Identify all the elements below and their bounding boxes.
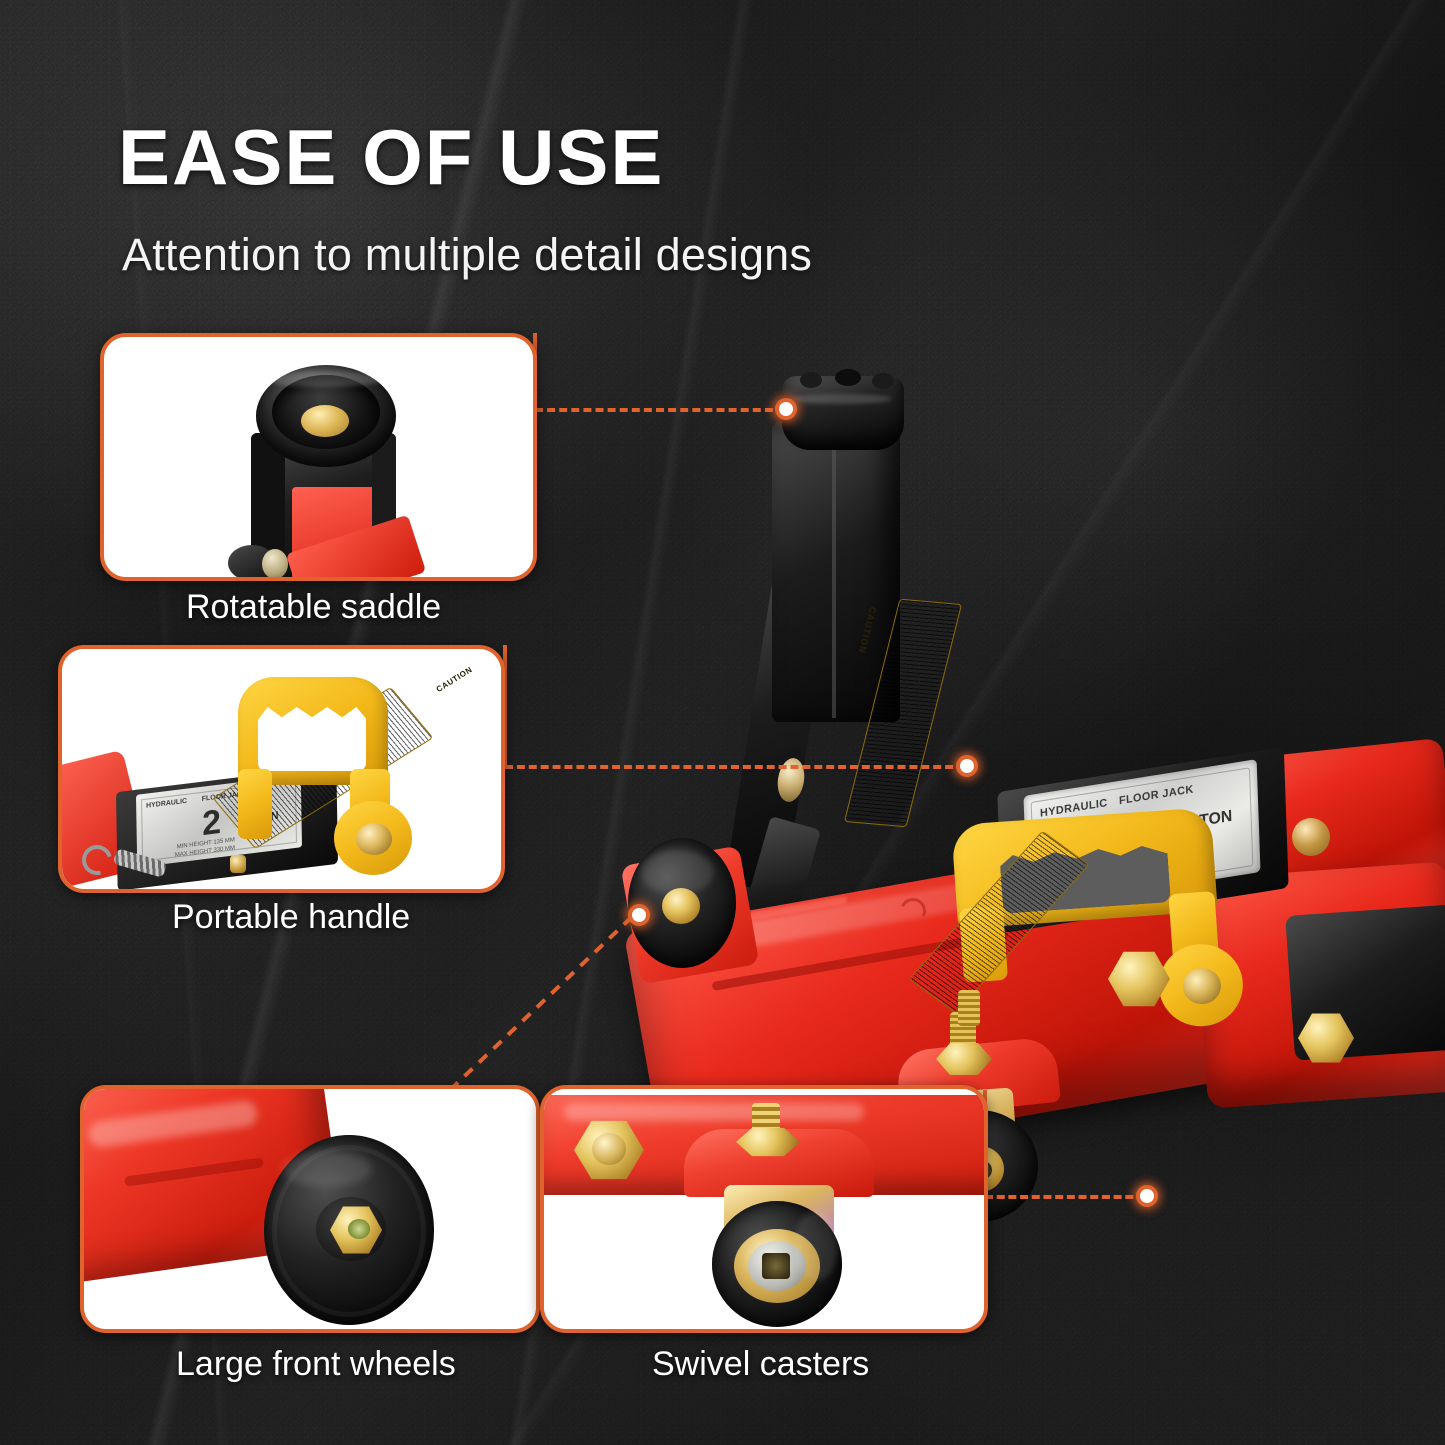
zoom-caster-hub-core bbox=[762, 1253, 790, 1279]
callout-image-rotatable-saddle bbox=[104, 337, 533, 577]
connector-line-swivel-casters bbox=[985, 1195, 1145, 1199]
callout-label-rotatable-saddle: Rotatable saddle bbox=[186, 588, 441, 627]
callout-large-front-wheels[interactable] bbox=[80, 1085, 540, 1333]
chassis-stud-bolt bbox=[958, 990, 980, 1026]
zoom-caster-wheel-shine bbox=[794, 1211, 838, 1281]
zoom-saddle-rim-highlight bbox=[264, 371, 384, 387]
zoom-handle-pivot-bolt bbox=[356, 823, 392, 855]
saddle-notch-left bbox=[800, 372, 822, 388]
page-subtitle: Attention to multiple detail designs bbox=[122, 232, 812, 277]
front-wheel-rim-shine bbox=[640, 850, 714, 894]
zoom-front-wheel-axle-core bbox=[348, 1219, 370, 1239]
zoom-handle-caution-heading: CAUTION bbox=[435, 665, 474, 694]
connector-anchor-rotatable-saddle bbox=[775, 398, 797, 420]
zoom-portable-handle bbox=[238, 677, 408, 867]
zoom-handle-grease-nipple bbox=[230, 855, 246, 873]
connector-anchor-swivel-casters bbox=[1136, 1185, 1158, 1207]
callout-portable-handle[interactable]: HYDRAULIC FLOOR JACK 2 TON MIN HEIGHT 13… bbox=[58, 645, 505, 893]
zoom-front-wheel-shine bbox=[282, 1151, 372, 1187]
saddle-notch-mid bbox=[835, 369, 861, 386]
zoom-caster-base-highlight bbox=[564, 1103, 864, 1121]
saddle-post-seam bbox=[832, 428, 836, 718]
zoom-saddle-pin-cap bbox=[262, 549, 288, 579]
callout-image-portable-handle: HYDRAULIC FLOOR JACK 2 TON MIN HEIGHT 13… bbox=[62, 649, 501, 889]
callout-label-portable-handle: Portable handle bbox=[172, 898, 410, 937]
zoom-saddle-brass-pad bbox=[301, 405, 349, 437]
saddle-highlight bbox=[792, 394, 892, 404]
callout-rotatable-saddle[interactable] bbox=[100, 333, 537, 581]
zoom-handle-upright-left bbox=[238, 769, 272, 839]
connector-line-rotatable-saddle bbox=[535, 408, 785, 412]
callout-label-large-front-wheels: Large front wheels bbox=[176, 1345, 456, 1384]
connector-line-portable-handle bbox=[505, 765, 965, 769]
callout-swivel-casters[interactable] bbox=[540, 1085, 988, 1333]
callout-image-swivel-casters bbox=[544, 1089, 984, 1329]
connector-anchor-large-front-wheels bbox=[628, 904, 650, 926]
connector-anchor-portable-handle bbox=[956, 755, 978, 777]
callout-label-swivel-casters: Swivel casters bbox=[652, 1345, 869, 1384]
page-title: EASE OF USE bbox=[118, 118, 664, 196]
zoom-spec-capacity: 2 bbox=[202, 805, 221, 841]
rivet-rear-2 bbox=[1292, 818, 1330, 856]
callout-image-large-front-wheels bbox=[84, 1089, 536, 1329]
zoom-caster-side-hexbolt-face bbox=[592, 1133, 626, 1165]
saddle-notch-right bbox=[872, 373, 894, 389]
